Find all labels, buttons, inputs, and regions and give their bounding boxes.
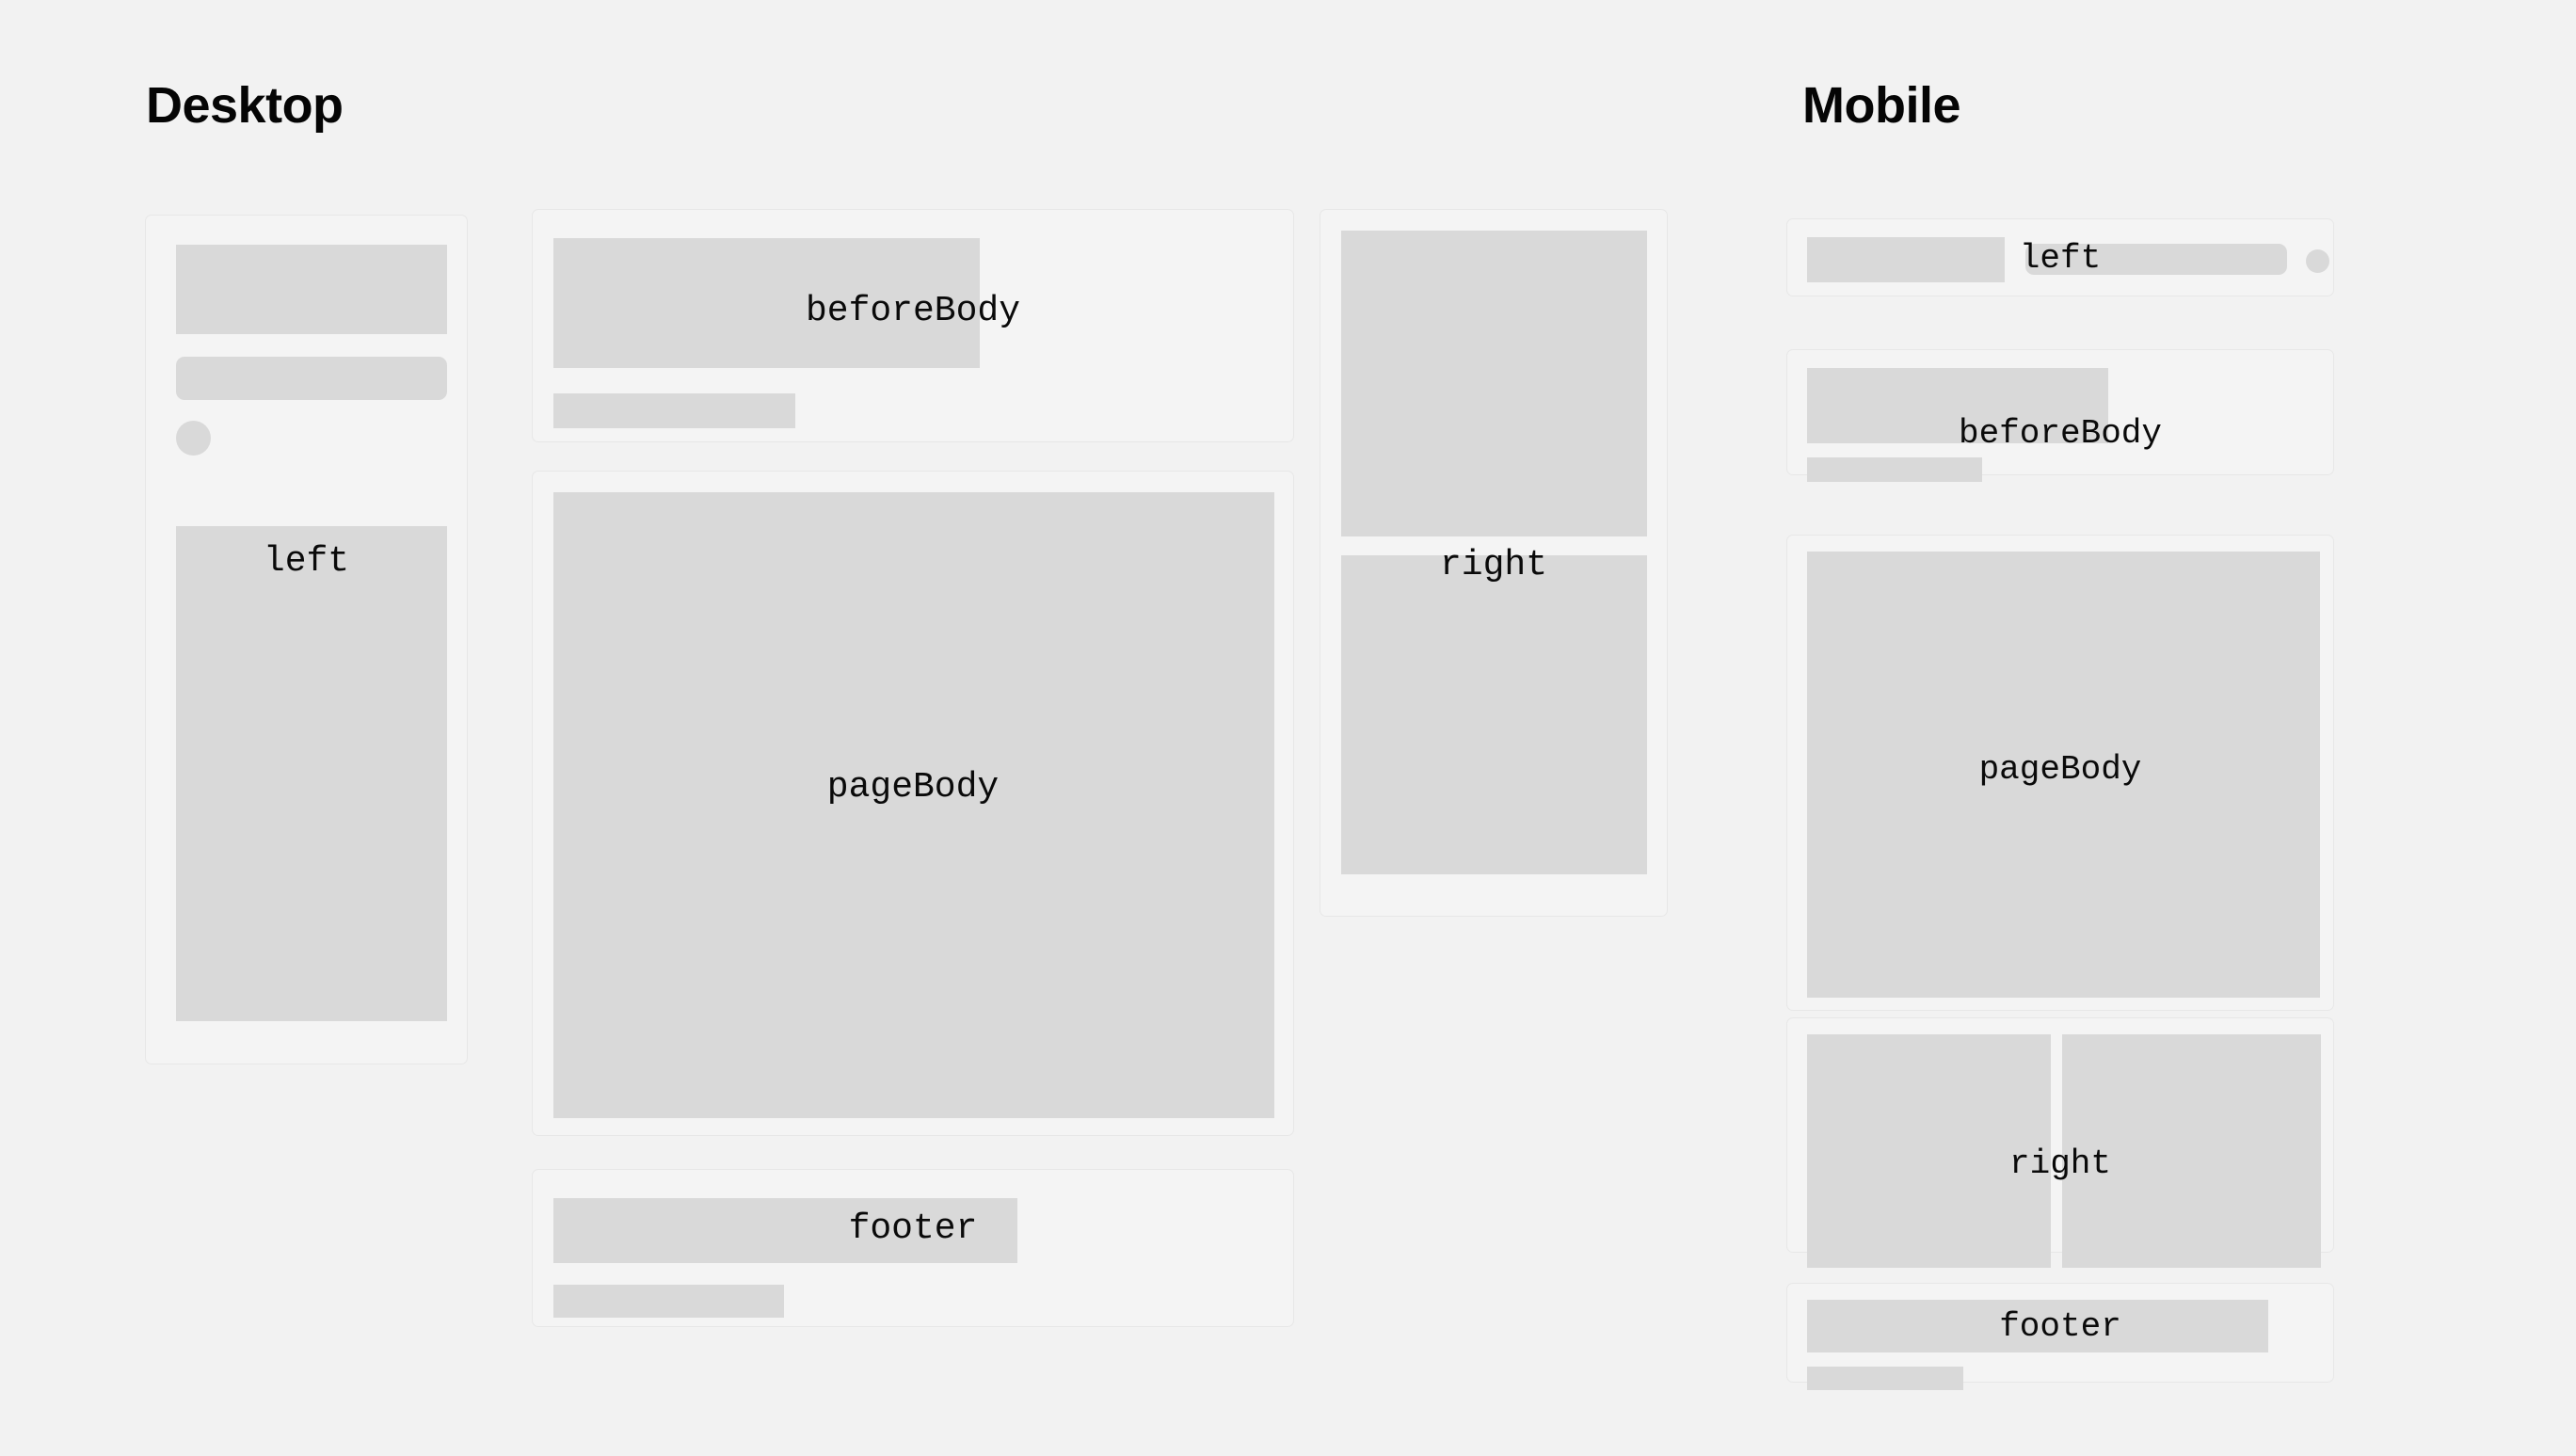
- skeleton-block-pill: [176, 357, 447, 400]
- skeleton-block-col-left: [1807, 1034, 2051, 1268]
- skeleton-block-large: [176, 245, 447, 334]
- skeleton-block-logo: [1807, 237, 2005, 282]
- skeleton-block-avatar: [2306, 249, 2329, 273]
- mobile-footer-region[interactable]: [1786, 1283, 2334, 1383]
- skeleton-block-pill: [2025, 244, 2287, 275]
- skeleton-block-wide: [1807, 1300, 2268, 1352]
- skeleton-block-content: [553, 492, 1274, 1118]
- skeleton-block-tall: [176, 526, 447, 1021]
- desktop-left-region[interactable]: [145, 215, 468, 1064]
- mobile-section-title: Mobile: [1802, 80, 1960, 131]
- desktop-section-title: Desktop: [146, 80, 344, 131]
- mobile-left-region[interactable]: [1786, 218, 2334, 296]
- skeleton-block-content: [1807, 552, 2320, 998]
- mobile-pagebody-region[interactable]: [1786, 535, 2334, 1011]
- skeleton-block-caption: [553, 393, 795, 428]
- desktop-footer-region[interactable]: [532, 1169, 1294, 1327]
- layout-preview-canvas: Desktop Mobile left beforeBody pageBody …: [0, 0, 2576, 1456]
- mobile-beforebody-region[interactable]: [1786, 349, 2334, 475]
- desktop-right-region[interactable]: [1320, 209, 1668, 917]
- skeleton-block-hero: [1807, 368, 2108, 443]
- skeleton-block-col-right: [2062, 1034, 2321, 1268]
- skeleton-block-caption: [553, 1285, 784, 1318]
- skeleton-block-top: [1341, 231, 1647, 536]
- skeleton-block-avatar: [176, 421, 211, 456]
- skeleton-block-bottom: [1341, 555, 1647, 874]
- desktop-beforebody-region[interactable]: [532, 209, 1294, 442]
- mobile-right-region[interactable]: [1786, 1017, 2334, 1253]
- desktop-pagebody-region[interactable]: [532, 471, 1294, 1136]
- skeleton-block-wide: [553, 1198, 1017, 1263]
- skeleton-block-caption: [1807, 457, 1982, 482]
- skeleton-block-caption: [1807, 1367, 1963, 1390]
- skeleton-block-hero: [553, 238, 980, 368]
